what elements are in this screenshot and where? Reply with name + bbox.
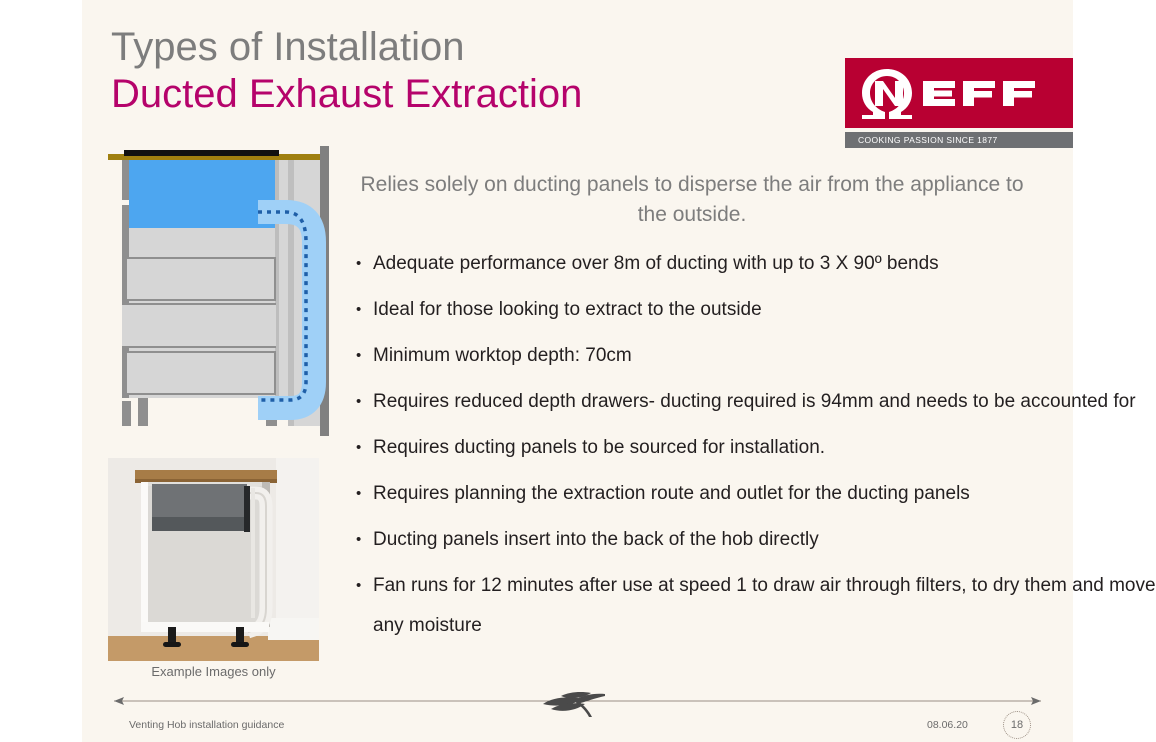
footer-date: 08.06.20 [927,719,968,731]
bullet-marker-icon: • [356,474,361,514]
list-item-text: Minimum worktop depth: 70cm [373,345,632,366]
logo-tagline: COOKING PASSION SINCE 1877 [858,133,998,148]
bullet-list: • Adequate performance over 8m of ductin… [328,244,1156,652]
bullet-marker-icon: • [356,382,361,422]
title-line-2: Ducted Exhaust Extraction [111,70,811,118]
footer-left-text: Venting Hob installation guidance [129,719,284,731]
list-item-text: Fan runs for 12 minutes after use at spe… [373,575,1156,636]
ducted-cabinet-diagram [108,146,349,436]
bullet-marker-icon: • [356,244,361,284]
bullet-marker-icon: • [356,566,361,606]
diagram-duct-path [108,146,349,436]
list-item: • Fan runs for 12 minutes after use at s… [328,566,1156,646]
list-item: • Ideal for those looking to extract to … [328,290,1156,330]
photo-caption: Example Images only [108,664,319,679]
title-line-1: Types of Installation [111,24,811,70]
list-item: • Ducting panels insert into the back of… [328,520,1156,560]
list-item-text: Ducting panels insert into the back of t… [373,529,819,550]
photo-plinth [141,622,269,632]
bullet-marker-icon: • [356,336,361,376]
list-item-text: Adequate performance over 8m of ducting … [373,253,939,274]
page-number-badge: 18 [1003,711,1031,739]
slide-canvas: Types of Installation Ducted Exhaust Ext… [82,0,1073,742]
bullet-marker-icon: • [356,520,361,560]
list-item: • Minimum worktop depth: 70cm [328,336,1156,376]
page-title: Types of Installation Ducted Exhaust Ext… [111,24,811,118]
intro-paragraph: Relies solely on ducting panels to dispe… [347,170,1037,230]
list-item-text: Requires planning the extraction route a… [373,483,970,504]
list-item-text: Ideal for those looking to extract to th… [373,299,762,320]
list-item: • Requires reduced depth drawers- ductin… [328,382,1156,422]
neff-logo: COOKING PASSION SINCE 1877 [845,58,1073,148]
photo-leg-1-foot [163,642,181,647]
list-item: • Requires ducting panels to be sourced … [328,428,1156,468]
bullet-marker-icon: • [356,290,361,330]
bullet-marker-icon: • [356,428,361,468]
list-item-text: Requires ducting panels to be sourced fo… [373,437,825,458]
installation-photo [108,458,319,661]
photo-leg-2-foot [231,642,249,647]
list-item: • Requires planning the extraction route… [328,474,1156,514]
list-item: • Adequate performance over 8m of ductin… [328,244,1156,284]
olive-branch-icon [531,687,611,717]
list-item-text: Requires reduced depth drawers- ducting … [373,391,1136,412]
neff-wordmark-icon [859,65,1049,121]
